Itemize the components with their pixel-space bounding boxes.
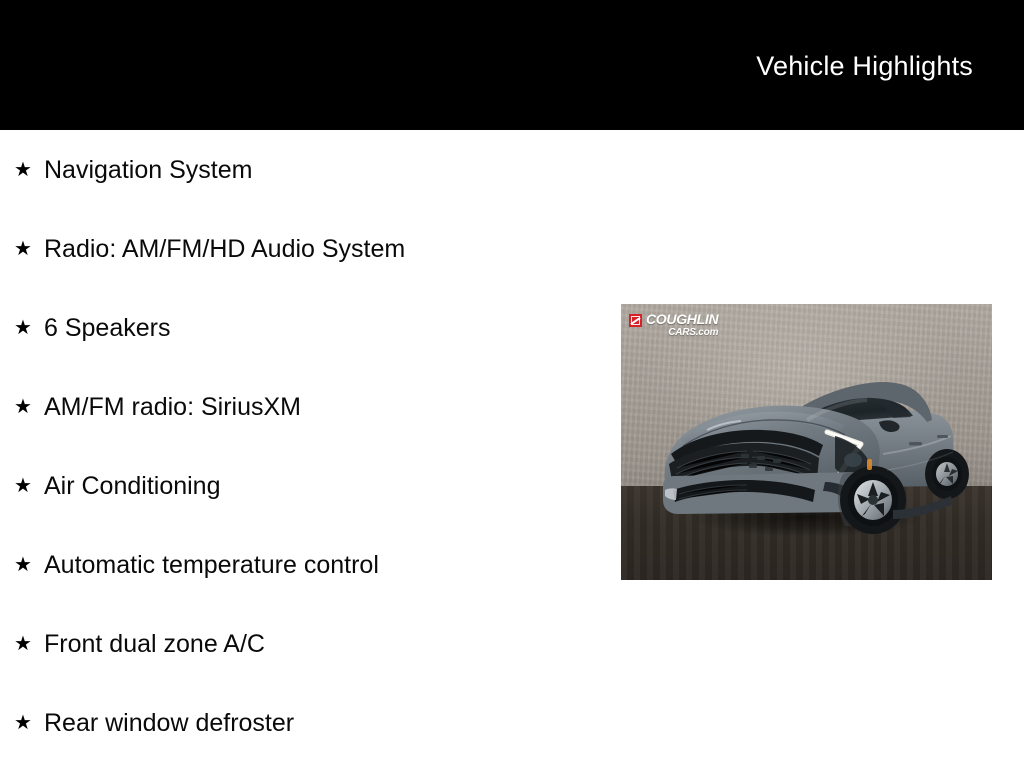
watermark-text: COUGHLIN CARS.com	[646, 312, 718, 338]
page-title: Vehicle Highlights	[756, 50, 973, 82]
highlight-label: 6 Speakers	[44, 313, 170, 343]
highlight-label: Navigation System	[44, 155, 252, 185]
star-icon: ★	[14, 555, 44, 575]
vehicle-highlights-page: Vehicle Highlights ★ Navigation System ★…	[0, 0, 1024, 768]
star-icon: ★	[14, 634, 44, 654]
highlight-label: Front dual zone A/C	[44, 629, 265, 659]
vehicle-photo: COUGHLIN CARS.com	[621, 304, 992, 580]
list-item: ★ Front dual zone A/C	[0, 604, 600, 683]
highlight-label: Air Conditioning	[44, 471, 221, 501]
star-icon: ★	[14, 476, 44, 496]
highlight-label: Radio: AM/FM/HD Audio System	[44, 234, 405, 264]
list-item: ★ 6 Speakers	[0, 288, 600, 367]
list-item: ★ Air Conditioning	[0, 446, 600, 525]
list-item: ★ Navigation System	[0, 130, 600, 209]
vehicle-highlights-list: ★ Navigation System ★ Radio: AM/FM/HD Au…	[0, 130, 600, 762]
highlight-label: Rear window defroster	[44, 708, 294, 738]
star-icon: ★	[14, 397, 44, 417]
list-item: ★ Radio: AM/FM/HD Audio System	[0, 209, 600, 288]
star-icon: ★	[14, 160, 44, 180]
star-icon: ★	[14, 239, 44, 259]
list-item: ★ Rear window defroster	[0, 683, 600, 762]
highlight-label: AM/FM radio: SiriusXM	[44, 392, 301, 422]
watermark-line-2: CARS.com	[646, 328, 718, 338]
star-icon: ★	[14, 318, 44, 338]
watermark-line-1: COUGHLIN	[646, 312, 718, 326]
coughlin-logo-icon	[629, 314, 642, 327]
list-item: ★ AM/FM radio: SiriusXM	[0, 367, 600, 446]
list-item: ★ Automatic temperature control	[0, 525, 600, 604]
suv-illustration	[621, 304, 992, 580]
dealer-watermark: COUGHLIN CARS.com	[629, 312, 718, 338]
page-header: Vehicle Highlights	[0, 0, 1024, 130]
highlight-label: Automatic temperature control	[44, 550, 379, 580]
star-icon: ★	[14, 713, 44, 733]
